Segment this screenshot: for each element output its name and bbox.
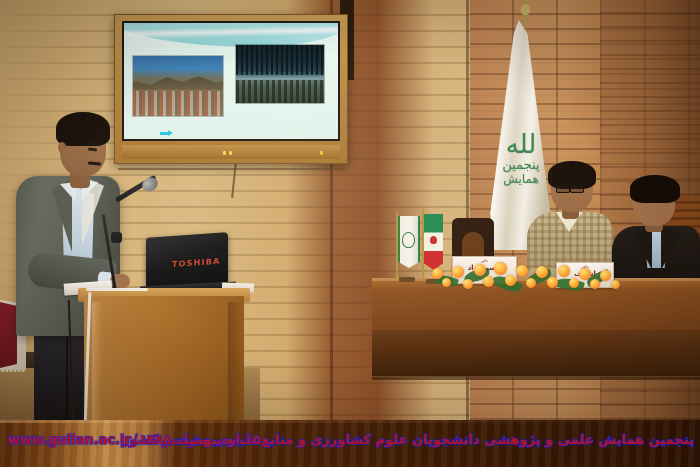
maroon-flag-band <box>0 302 17 368</box>
presenter-hair <box>56 112 110 146</box>
display-led-power <box>223 151 226 155</box>
iran-flag-pole <box>422 209 424 279</box>
microphone-joint <box>111 232 122 243</box>
banner-line-2: پنجمین <box>493 159 549 173</box>
podium-front-edge-highlight <box>92 302 102 427</box>
university-flag <box>398 216 416 278</box>
slide-header-swoosh <box>124 23 338 47</box>
podium <box>84 296 244 427</box>
university-flag-emblem <box>402 232 415 248</box>
website-date-caption: www.guilan.ac.ir/۱۵ اردیبهشت ۱۳۸۸ <box>8 428 261 454</box>
caption-separator: / <box>131 433 140 448</box>
arrow-head <box>168 130 173 136</box>
slide-photo-forest <box>236 45 324 103</box>
flower-arrangement <box>430 252 630 302</box>
banner-line-3: همایش <box>493 173 549 186</box>
university-flag-pole <box>396 212 398 278</box>
display-led-status <box>229 151 232 155</box>
university-flag-stand <box>399 277 415 282</box>
caption-bar-highlight <box>0 420 700 423</box>
presenter-ear <box>58 142 66 153</box>
presenter-trouser-seam <box>66 336 68 427</box>
iran-flag-emblem <box>430 236 437 244</box>
laptop-brand-label: TOSHIBA <box>172 257 220 269</box>
event-date: ۱۵ اردیبهشت ۱۳۸۸ <box>140 433 261 448</box>
website-url: www.guilan.ac.ir <box>8 433 131 448</box>
panelist1-glasses-bridge <box>567 186 571 187</box>
podium-right-edge-shadow <box>228 302 244 427</box>
panel-table-shadow <box>372 330 700 380</box>
presentation-display <box>114 14 348 164</box>
power-cable-top <box>86 288 148 291</box>
slide-photo-village <box>133 56 223 116</box>
wall-cable-horizontal <box>118 168 346 170</box>
banner-finial <box>521 4 530 15</box>
conference-photograph: لله پنجمین همایش <box>0 0 700 467</box>
slide-swoosh-line <box>124 24 338 39</box>
panelist2-hair <box>630 175 680 203</box>
display-led-right <box>320 151 323 155</box>
presentation-slide <box>124 23 338 139</box>
panelist1-glasses-right-lens <box>570 184 584 193</box>
